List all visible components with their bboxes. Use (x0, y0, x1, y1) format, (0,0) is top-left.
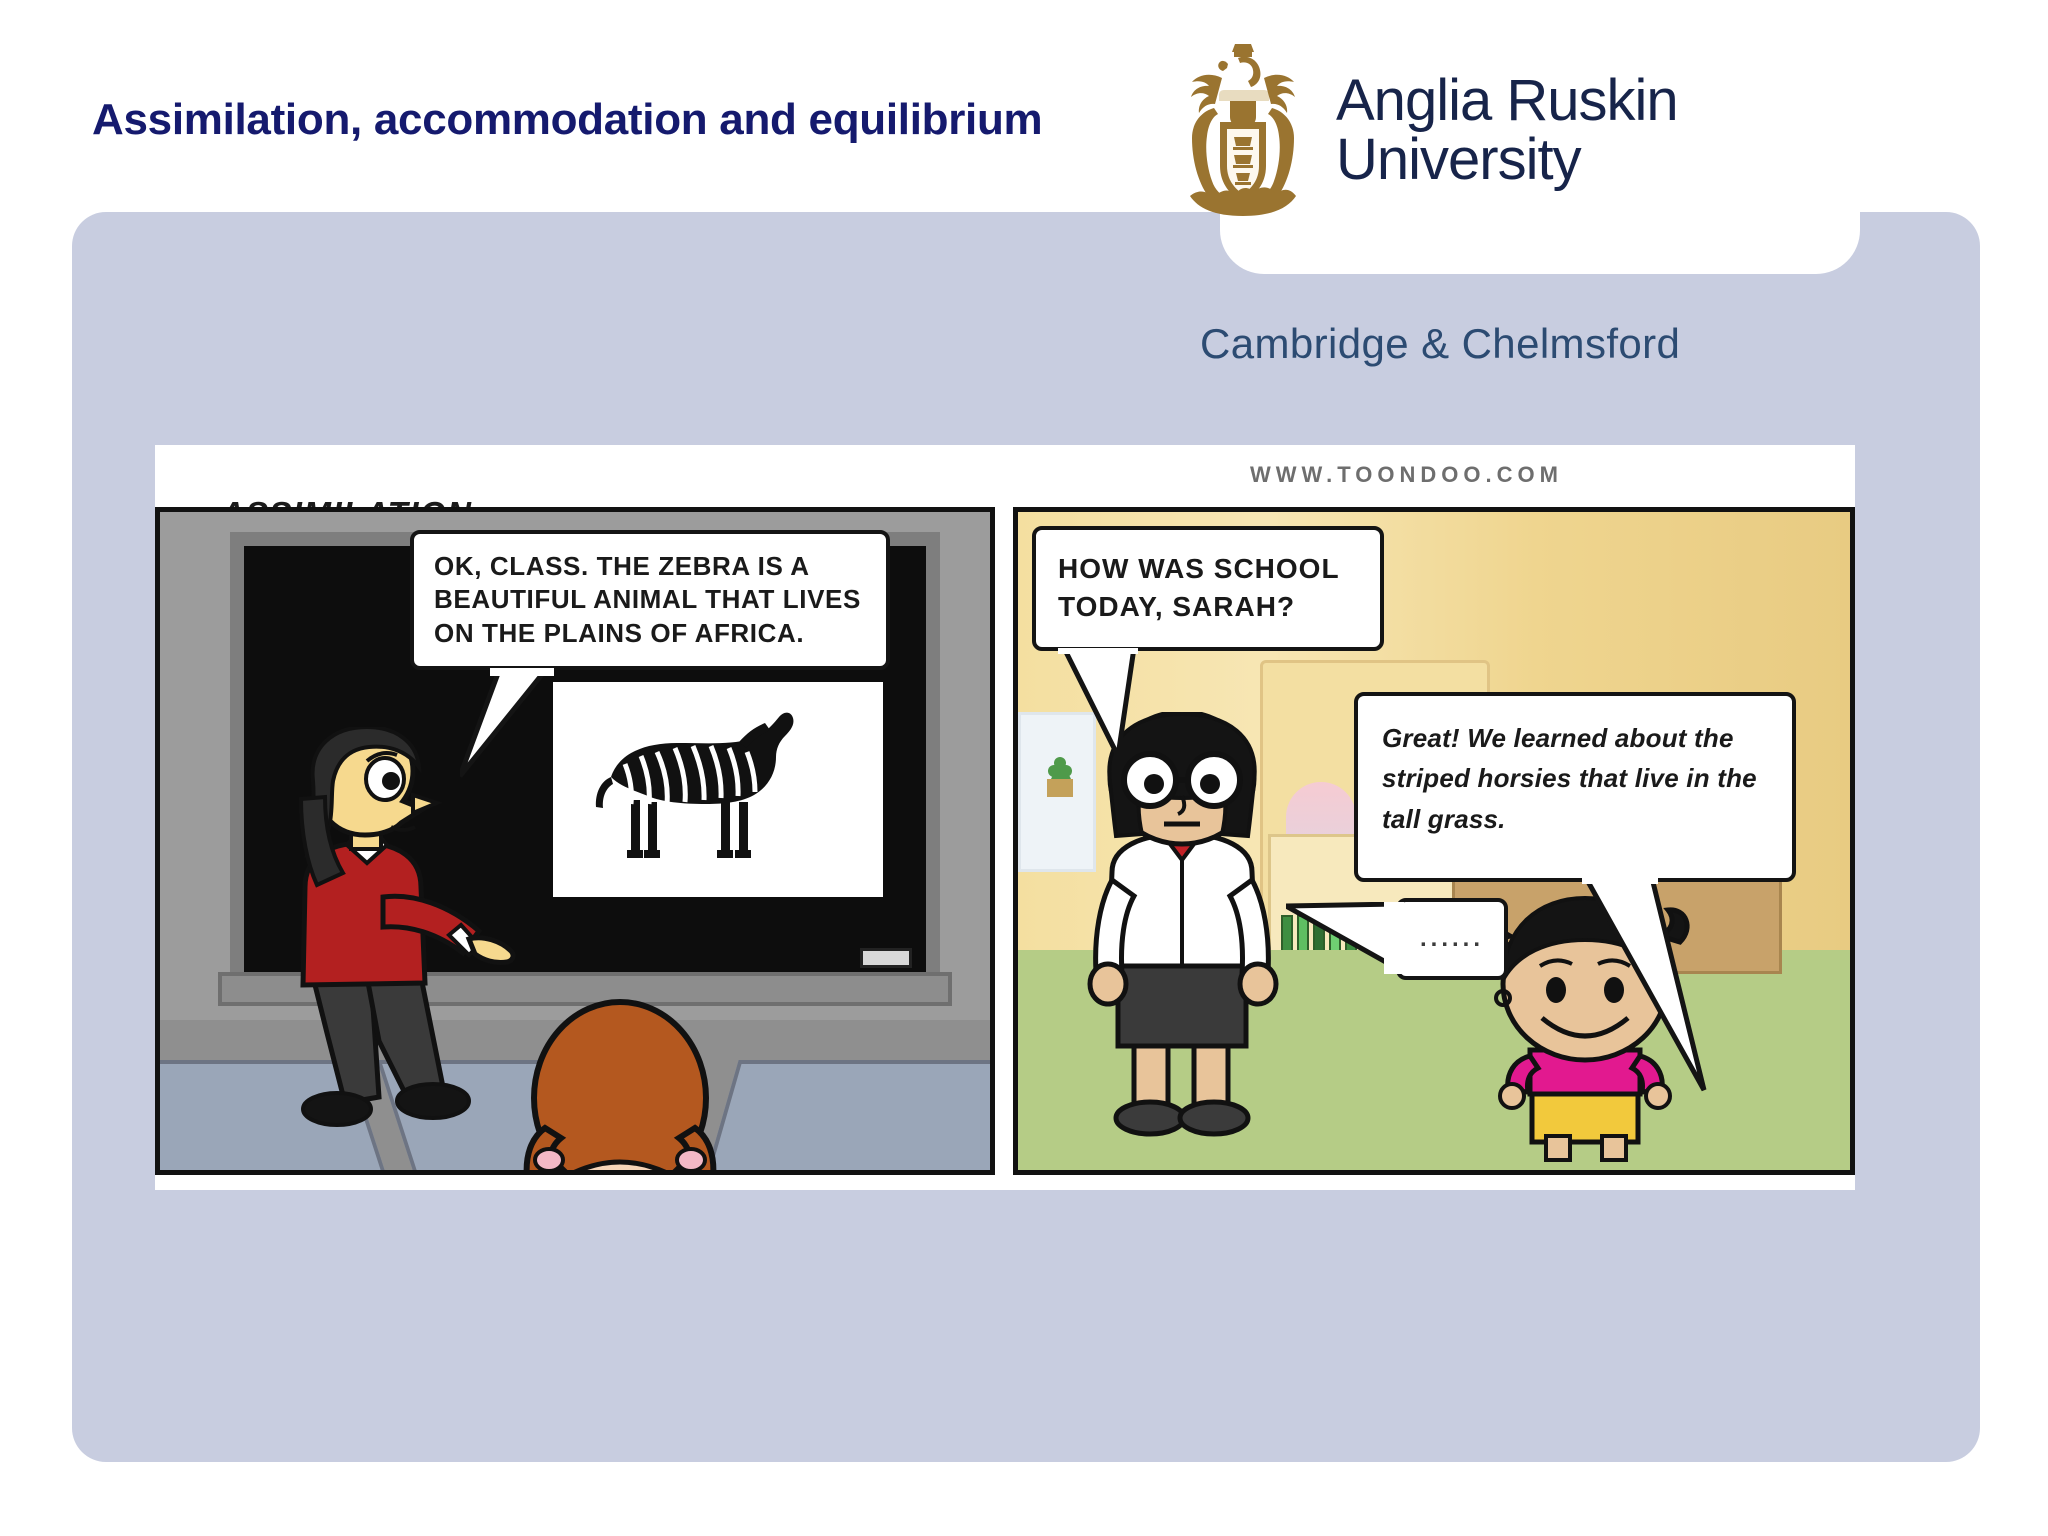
comic-strip-image: ASSIMILATION - BY ALYONS WWW.TOONDOO.COM (155, 445, 1855, 1190)
mother-character (1068, 712, 1298, 1172)
comic-panel-2: HOW WAS SCHOOL TODAY, SARAH? Great! We l… (1013, 507, 1855, 1175)
speech-bubble-child: Great! We learned about the striped hors… (1354, 692, 1796, 882)
university-logo: Anglia Ruskin University (1168, 40, 1788, 220)
student-character-back-view (505, 978, 735, 1175)
speech-bubble-ellipsis: ...... (1396, 898, 1508, 980)
board-eraser (860, 948, 912, 968)
speech-bubble-mother: HOW WAS SCHOOL TODAY, SARAH? (1032, 526, 1384, 651)
page-title: Assimilation, accommodation and equilibr… (92, 92, 1052, 148)
heraldic-crest-icon (1168, 38, 1318, 223)
speech-bubble-tail (1578, 878, 1718, 1093)
speech-bubble-tail (1054, 648, 1174, 758)
campus-subtitle: Cambridge & Chelmsford (1200, 320, 1680, 368)
logo-notch-right-corner (1860, 212, 1906, 258)
student-desk (701, 1060, 995, 1175)
speech-bubble-tail (460, 668, 580, 778)
zebra-picture-card (553, 682, 883, 897)
university-name-line1: Anglia Ruskin (1336, 68, 1678, 133)
zebra-drawing-icon (553, 682, 883, 897)
speech-bubble-teacher: OK, CLASS. THE ZEBRA IS A BEAUTIFUL ANIM… (410, 530, 890, 670)
comic-watermark: WWW.TOONDOO.COM (1250, 462, 1563, 488)
university-name-line2: University (1336, 130, 1678, 189)
university-wordmark: Anglia Ruskin University (1336, 71, 1678, 189)
speech-bubble-tail (1286, 902, 1404, 974)
comic-panel-1: OK, CLASS. THE ZEBRA IS A BEAUTIFUL ANIM… (155, 507, 995, 1175)
